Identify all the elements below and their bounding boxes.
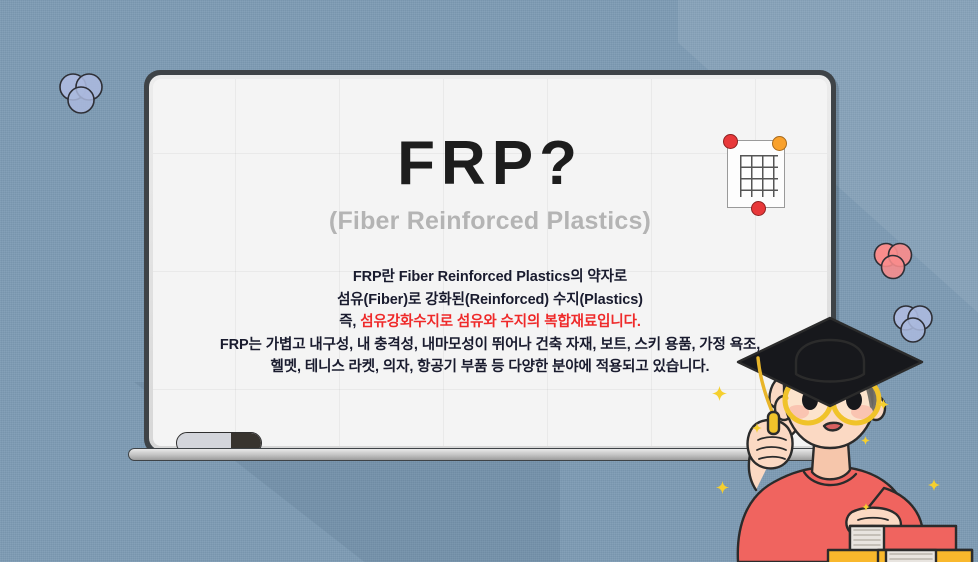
pin-top-left-icon — [723, 134, 738, 149]
grid-icon — [740, 155, 778, 197]
paragraph-emphasis: 섬유강화수지로 섬유와 수지의 복합재료입니다. — [360, 314, 641, 330]
triple-circle-right-pink-icon — [871, 239, 915, 283]
paragraph-line: 섬유(Fiber)로 강화된(Reinforced) 수지(Plastics) — [153, 289, 827, 312]
grid-note-card — [723, 134, 787, 212]
triple-circle-top-left-icon — [56, 68, 106, 118]
sparkle-5-icon — [861, 432, 870, 450]
paragraph-lead: 즉, — [339, 314, 360, 330]
sparkle-6-icon — [928, 478, 940, 496]
paragraph-line: FRP란 Fiber Reinforced Plastics의 약자로 — [153, 266, 827, 289]
sparkle-1-icon — [712, 386, 727, 406]
student-character-illustration — [700, 312, 978, 562]
sparkle-4-icon — [878, 397, 889, 415]
pin-bottom-center-icon — [751, 201, 766, 216]
pin-top-right-icon — [772, 136, 787, 151]
sparkle-7-icon — [862, 498, 870, 516]
sparkle-2-icon — [752, 420, 762, 438]
sparkle-3-icon — [716, 481, 729, 499]
